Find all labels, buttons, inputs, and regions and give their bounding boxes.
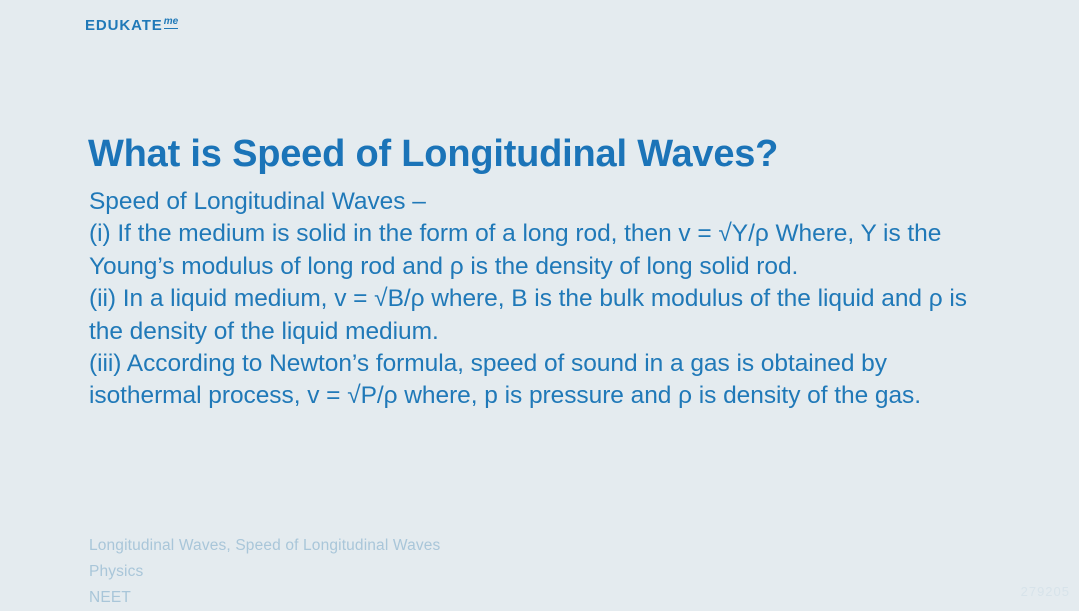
body-line-heading: Speed of Longitudinal Waves –	[89, 186, 999, 218]
slide-canvas: EDUKATEme What is Speed of Longitudinal …	[0, 0, 1079, 607]
footer-subject: Physics	[89, 559, 440, 585]
footer-tags: Longitudinal Waves, Speed of Longitudina…	[89, 533, 440, 559]
logo-superscript-me: me	[164, 16, 178, 29]
watermark-code: 279205	[1021, 584, 1070, 599]
page-title: What is Speed of Longitudinal Waves?	[88, 133, 778, 177]
edukate-logo[interactable]: EDUKATEme	[85, 17, 178, 33]
body-content: Speed of Longitudinal Waves – (i) If the…	[89, 186, 999, 413]
body-line-liquid-medium: (ii) In a liquid medium, v = √B/ρ where,…	[89, 283, 999, 348]
logo-wordmark: EDUKATE	[85, 17, 163, 34]
body-line-solid-rod: (i) If the medium is solid in the form o…	[89, 218, 999, 283]
body-line-gas-newton: (iii) According to Newton’s formula, spe…	[89, 348, 999, 413]
footer-exam: NEET	[89, 585, 440, 611]
footer-meta: Longitudinal Waves, Speed of Longitudina…	[89, 533, 440, 611]
